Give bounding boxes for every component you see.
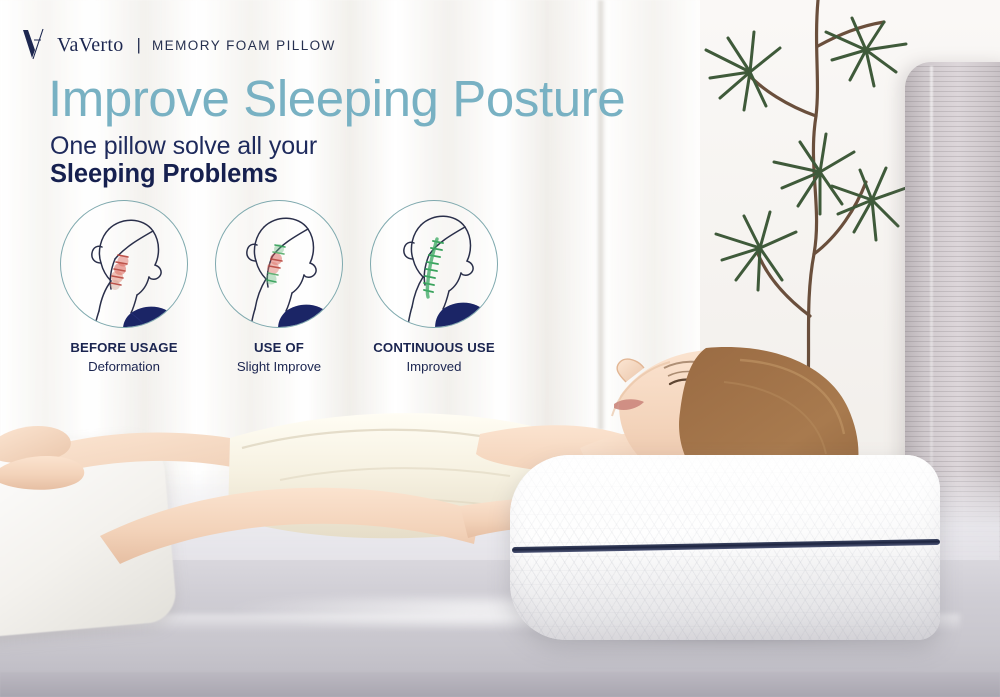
memory-foam-pillow	[510, 455, 940, 640]
mattress-edge	[0, 672, 1000, 697]
subheadline-line-2: Sleeping Problems	[50, 160, 278, 189]
brand-tagline: MEMORY FOAM PILLOW	[152, 38, 336, 53]
brand-name: VaVerto	[57, 34, 124, 57]
pillow-lower-shade	[510, 549, 940, 640]
promo-banner: VaVerto | MEMORY FOAM PILLOW Improve Sle…	[0, 0, 1000, 697]
feature-caption: BEFORE USAGE Deformation	[56, 340, 192, 375]
feature-title: CONTINUOUS USE	[366, 340, 502, 357]
feature-item-continuous-use: CONTINUOUS USE Improved	[366, 200, 502, 375]
feature-caption: CONTINUOUS USE Improved	[366, 340, 502, 375]
brand-lockup: VaVerto | MEMORY FOAM PILLOW	[22, 28, 336, 62]
neck-posture-deformed-icon	[60, 200, 188, 328]
feature-title: BEFORE USAGE	[56, 340, 192, 357]
feature-subtitle: Improved	[366, 358, 502, 375]
feature-subtitle: Deformation	[56, 358, 192, 375]
feature-list: BEFORE USAGE Deformation	[56, 200, 526, 395]
brand-separator: |	[137, 35, 141, 55]
feature-item-use-of: USE OF Slight Improve	[211, 200, 347, 375]
feature-title: USE OF	[211, 340, 347, 357]
neck-posture-partial-icon	[215, 200, 343, 328]
feature-subtitle: Slight Improve	[211, 358, 347, 375]
feature-item-before-usage: BEFORE USAGE Deformation	[56, 200, 192, 375]
page-title: Improve Sleeping Posture	[48, 72, 625, 126]
v-monogram-icon	[22, 28, 48, 62]
neck-posture-healthy-icon	[370, 200, 498, 328]
subheadline-line-1: One pillow solve all your	[50, 132, 317, 161]
feature-caption: USE OF Slight Improve	[211, 340, 347, 375]
